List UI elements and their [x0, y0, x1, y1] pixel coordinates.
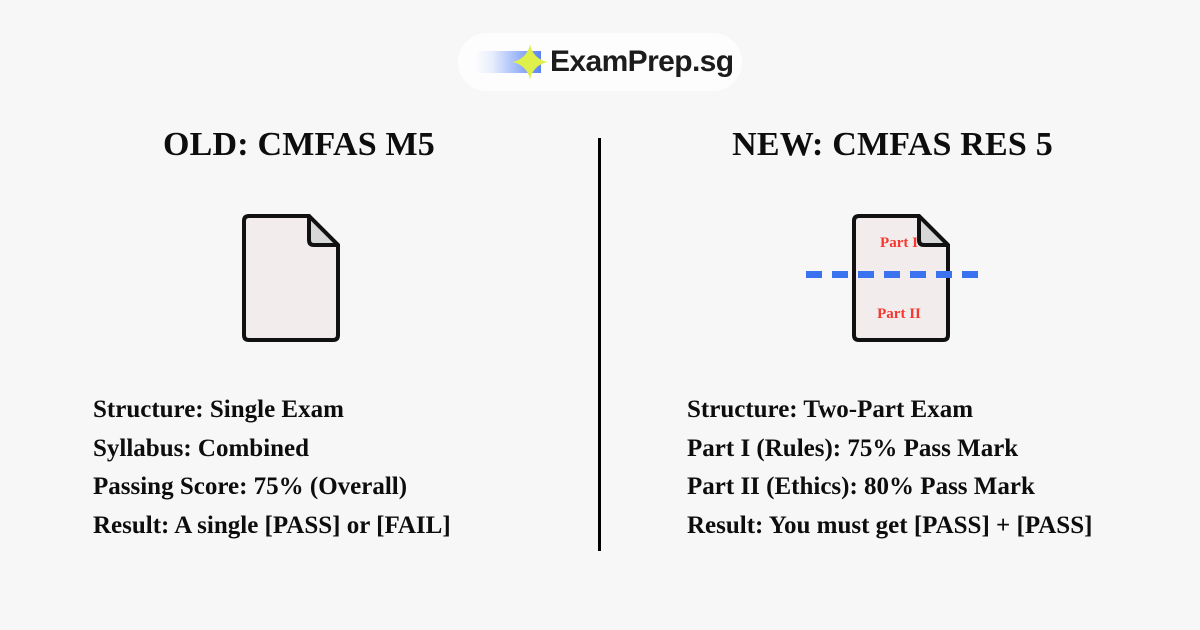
details-list-old: Structure: Single Exam Syllabus: Combine… — [93, 391, 451, 545]
column-new: NEW: CMFAS RES 5 Part I Part II Structur… — [601, 0, 1200, 630]
detail-line: Structure: Single Exam — [93, 391, 451, 430]
detail-line: Result: You must get [PASS] + [PASS] — [687, 507, 1092, 546]
detail-line: Passing Score: 75% (Overall) — [93, 468, 451, 507]
column-old: OLD: CMFAS M5 Structure: Single Exam Syl… — [0, 0, 598, 630]
doc-label-part-2: Part II — [849, 306, 949, 323]
detail-line: Result: A single [PASS] or [FAIL] — [93, 507, 451, 546]
details-list-new: Structure: Two-Part Exam Part I (Rules):… — [687, 391, 1092, 545]
document-icon-old — [239, 213, 341, 348]
detail-line: Part II (Ethics): 80% Pass Mark — [687, 468, 1092, 507]
page-title-old: OLD: CMFAS M5 — [0, 126, 598, 164]
detail-line: Structure: Two-Part Exam — [687, 391, 1092, 430]
split-dashed-line — [806, 271, 988, 278]
doc-label-part-1: Part I — [849, 235, 949, 252]
detail-line: Part I (Rules): 75% Pass Mark — [687, 430, 1092, 469]
page-title-new: NEW: CMFAS RES 5 — [593, 126, 1192, 164]
detail-line: Syllabus: Combined — [93, 430, 451, 469]
document-split-icon-new: Part I Part II — [849, 213, 951, 348]
